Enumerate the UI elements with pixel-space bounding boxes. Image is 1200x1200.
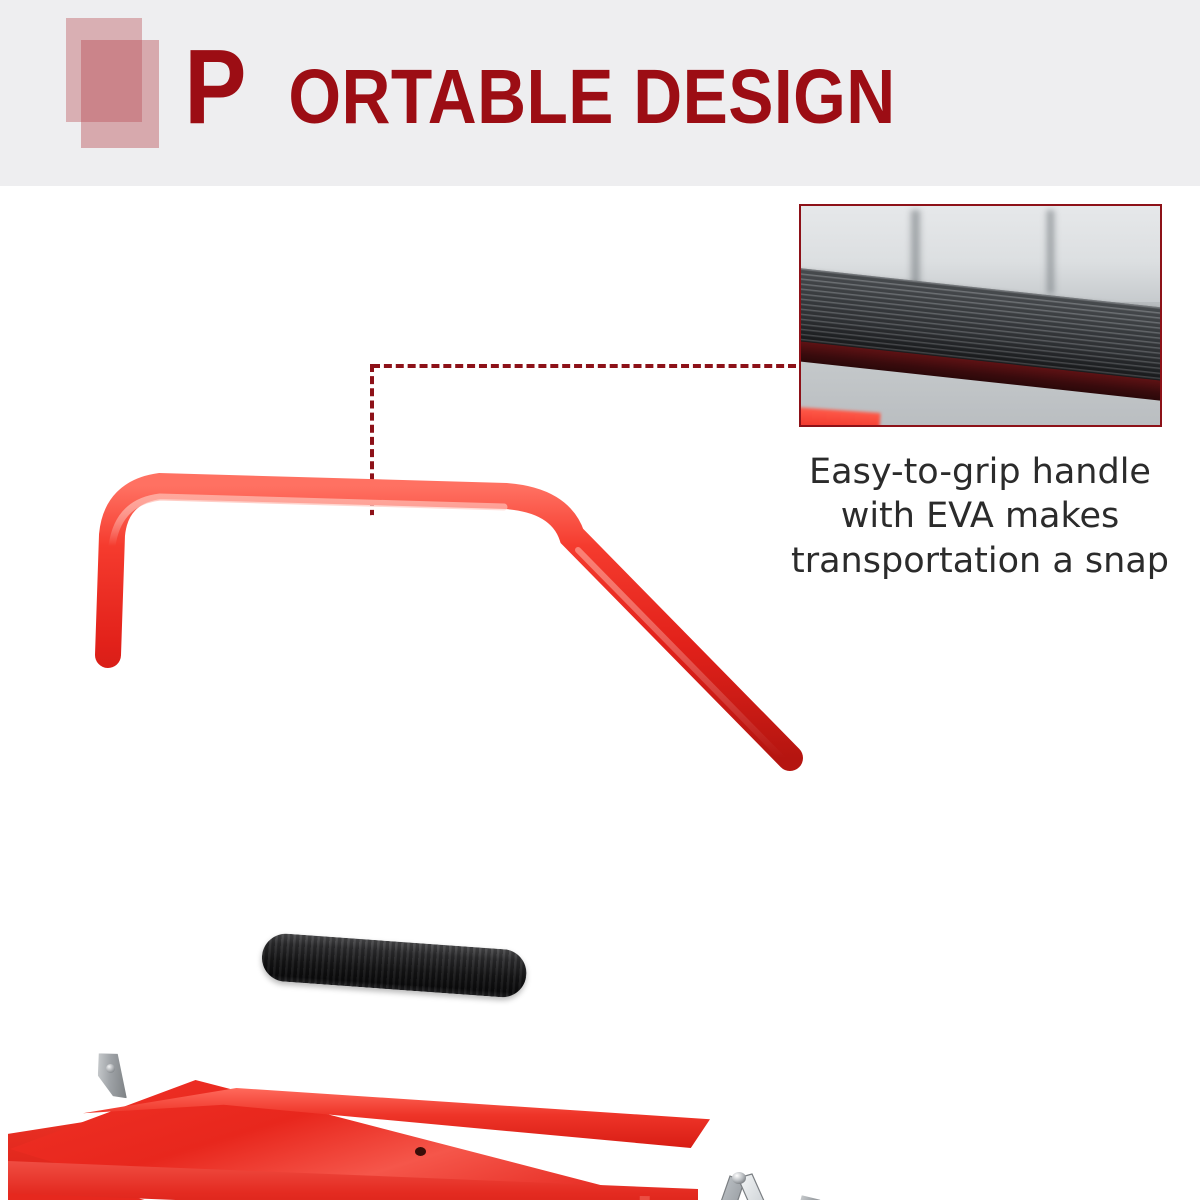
inset-background-post-2 — [1045, 210, 1056, 293]
page-title-dropcap: P — [184, 34, 247, 140]
decorative-square-front — [81, 40, 159, 148]
page-title: PORTABLE DESIGN — [180, 34, 937, 146]
cantilever-linkage-arms — [660, 1170, 910, 1200]
eva-handle-macro-photo — [799, 204, 1162, 427]
handle-bracket-left — [95, 1051, 127, 1102]
carry-handle — [0, 440, 900, 860]
callout-leader-horizontal — [372, 364, 796, 368]
eva-grip-sleeve — [260, 932, 528, 999]
lid-vent-hole — [415, 1147, 426, 1156]
cantilever-tool-box: DURHAND — [0, 440, 900, 1200]
infographic-page: PORTABLE DESIGN Easy-to-grip handle with… — [0, 0, 1200, 1200]
callout-marker-dot — [360, 515, 385, 540]
handle-bracket-rivet-left — [106, 1064, 115, 1073]
page-title-rest: ORTABLE DESIGN — [289, 59, 896, 136]
